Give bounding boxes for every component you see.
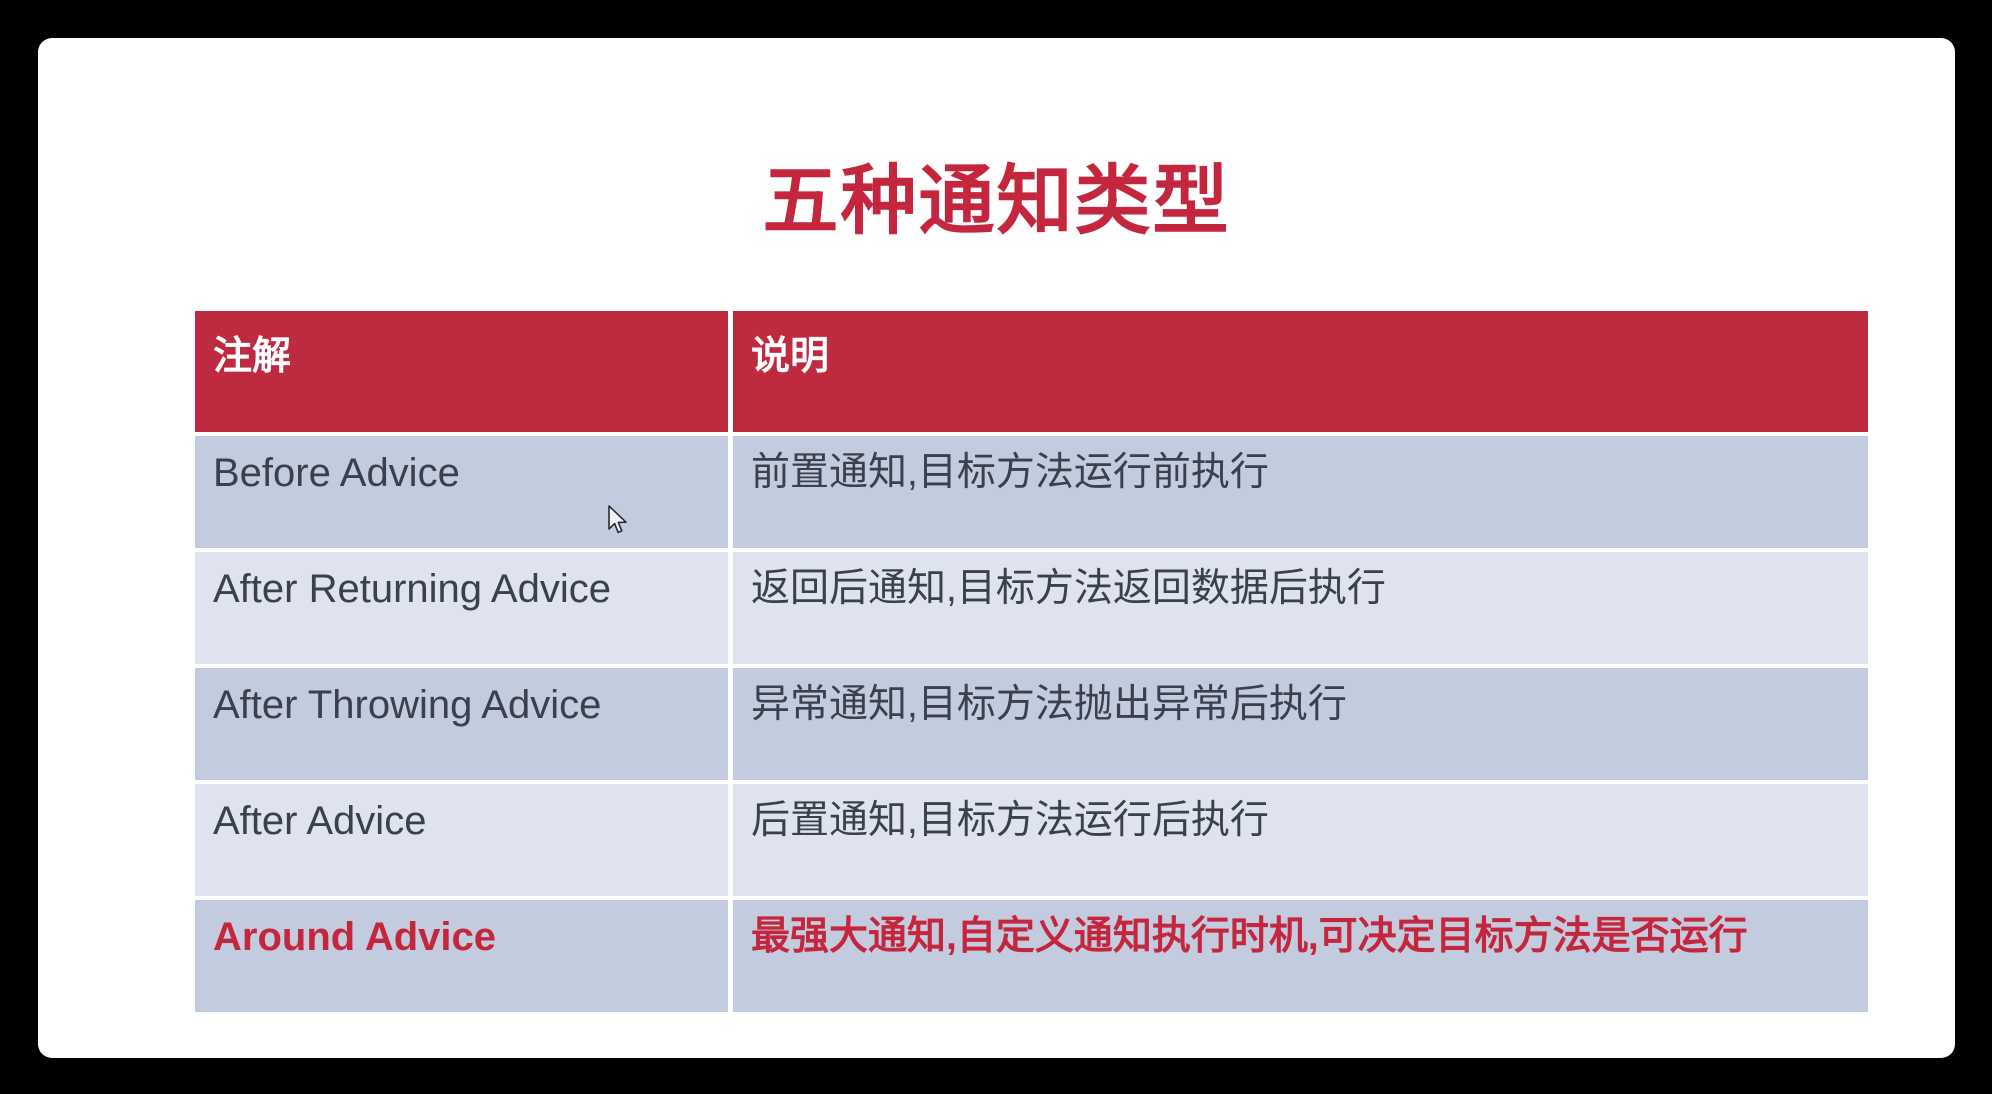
table-row: After Returning Advice 返回后通知,目标方法返回数据后执行 xyxy=(195,552,1868,668)
table-row: Around Advice 最强大通知,自定义通知执行时机,可决定目标方法是否运… xyxy=(195,900,1868,1012)
advice-name: After Throwing Advice xyxy=(213,668,728,730)
cell-description: 后置通知,目标方法运行后执行 xyxy=(733,784,1868,900)
column-header-annotation-label: 注解 xyxy=(213,311,728,381)
cell-annotation: After Returning Advice xyxy=(195,552,733,668)
table-row: After Throwing Advice 异常通知,目标方法抛出异常后执行 xyxy=(195,668,1868,784)
table-header-row: 注解 说明 xyxy=(195,311,1868,432)
advice-description: 异常通知,目标方法抛出异常后执行 xyxy=(751,668,1868,730)
cell-description: 最强大通知,自定义通知执行时机,可决定目标方法是否运行 xyxy=(733,900,1868,1012)
slide-surface: 五种通知类型 注解 说明 Before Ad xyxy=(38,38,1955,1058)
page-title: 五种通知类型 xyxy=(38,158,1955,246)
advice-description: 返回后通知,目标方法返回数据后执行 xyxy=(751,552,1868,614)
advice-name: After Advice xyxy=(213,784,728,846)
advice-name: After Returning Advice xyxy=(213,552,728,614)
column-header-description-label: 说明 xyxy=(751,311,1868,381)
cell-annotation: After Throwing Advice xyxy=(195,668,733,784)
cell-description: 异常通知,目标方法抛出异常后执行 xyxy=(733,668,1868,784)
advice-types-table: 注解 说明 Before Advice 前置通知,目标方法运行前执行 xyxy=(195,311,1868,1012)
cell-annotation: Before Advice xyxy=(195,432,733,552)
column-header-description: 说明 xyxy=(733,311,1868,432)
screen-root: 五种通知类型 注解 说明 Before Ad xyxy=(0,0,1992,1094)
cell-annotation: Around Advice xyxy=(195,900,733,1012)
table-header: 注解 说明 xyxy=(195,311,1868,432)
advice-description: 前置通知,目标方法运行前执行 xyxy=(751,436,1868,498)
table-row: Before Advice 前置通知,目标方法运行前执行 xyxy=(195,432,1868,552)
cell-description: 返回后通知,目标方法返回数据后执行 xyxy=(733,552,1868,668)
cell-description: 前置通知,目标方法运行前执行 xyxy=(733,432,1868,552)
advice-name: Before Advice xyxy=(213,436,728,498)
table-row: After Advice 后置通知,目标方法运行后执行 xyxy=(195,784,1868,900)
advice-name: Around Advice xyxy=(213,900,728,962)
column-header-annotation: 注解 xyxy=(195,311,733,432)
advice-description: 后置通知,目标方法运行后执行 xyxy=(751,784,1868,846)
advice-description: 最强大通知,自定义通知执行时机,可决定目标方法是否运行 xyxy=(751,900,1868,962)
table-body: Before Advice 前置通知,目标方法运行前执行 After Retur… xyxy=(195,432,1868,1012)
cell-annotation: After Advice xyxy=(195,784,733,900)
